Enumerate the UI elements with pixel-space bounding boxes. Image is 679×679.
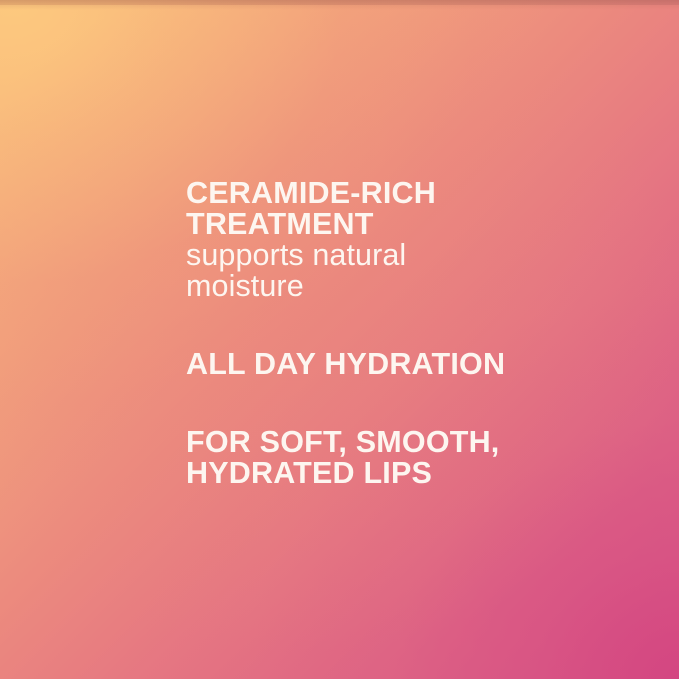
background-top-edge-tint bbox=[0, 0, 679, 5]
claim-block-soft-smooth-lips: FOR SOFT, SMOOTH, HYDRATED LIPS bbox=[186, 427, 616, 489]
marketing-copy: CERAMIDE-RICH TREATMENT supports natural… bbox=[186, 178, 616, 489]
claim-line: moisture bbox=[186, 271, 616, 302]
claim-line: TREATMENT bbox=[186, 209, 616, 240]
claim-line: HYDRATED LIPS bbox=[186, 458, 616, 489]
claim-line: FOR SOFT, SMOOTH, bbox=[186, 427, 616, 458]
marketing-graphic: CERAMIDE-RICH TREATMENT supports natural… bbox=[0, 0, 679, 679]
claim-line: supports natural bbox=[186, 240, 616, 271]
claim-line: ALL DAY HYDRATION bbox=[186, 349, 616, 380]
claim-block-all-day-hydration: ALL DAY HYDRATION bbox=[186, 349, 616, 380]
claim-block-ceramide-treatment: CERAMIDE-RICH TREATMENT supports natural… bbox=[186, 178, 616, 302]
claim-line: CERAMIDE-RICH bbox=[186, 178, 616, 209]
